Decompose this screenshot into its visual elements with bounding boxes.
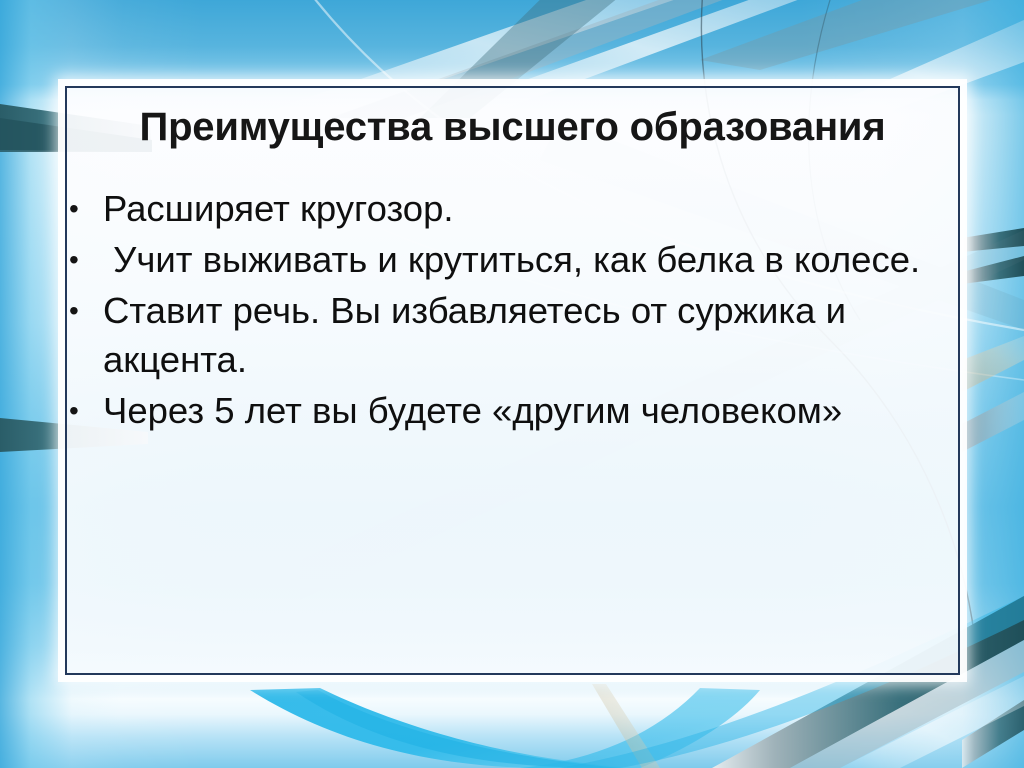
list-item: • Через 5 лет вы будете «другим человеко…	[67, 386, 957, 435]
list-item-label: Учит выживать и крутиться, как белка в к…	[103, 235, 957, 284]
list-item-label: Через 5 лет вы будете «другим человеком»	[103, 386, 957, 435]
bullet-marker-icon: •	[69, 184, 87, 233]
bullet-marker-icon: •	[69, 235, 87, 284]
list-item-label: Ставит речь. Вы избавляетесь от суржика …	[103, 286, 957, 384]
bullet-list: • Расширяет кругозор. • Учит выживать и …	[67, 184, 957, 437]
presentation-slide: Преимущества высшего образования • Расши…	[0, 0, 1024, 768]
page-title: Преимущества высшего образования	[67, 105, 958, 149]
list-item: • Расширяет кругозор.	[67, 184, 957, 233]
bullet-marker-icon: •	[69, 286, 87, 335]
slide-content-panel: Преимущества высшего образования • Расши…	[65, 86, 960, 675]
list-item-label: Расширяет кругозор.	[103, 184, 957, 233]
list-item: • Учит выживать и крутиться, как белка в…	[67, 235, 957, 284]
bullet-marker-icon: •	[69, 386, 87, 435]
list-item: • Ставит речь. Вы избавляетесь от суржик…	[67, 286, 957, 384]
